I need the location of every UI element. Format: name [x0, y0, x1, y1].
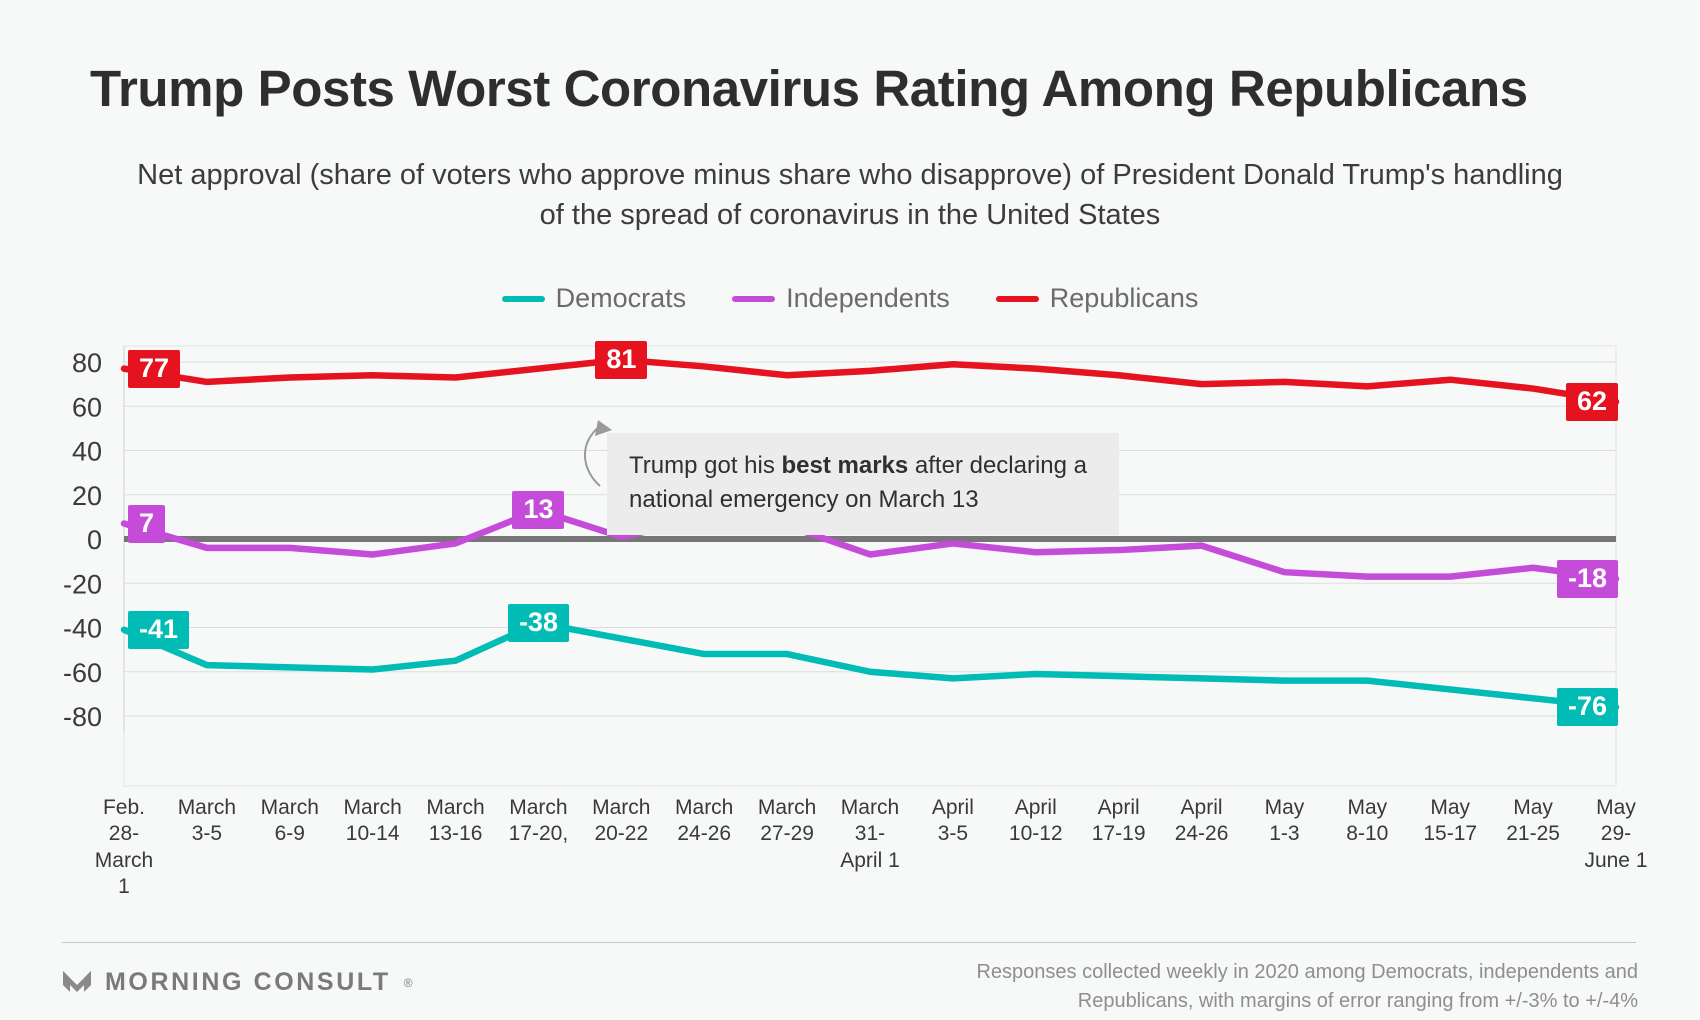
- y-axis-tick-label: 80: [72, 348, 102, 378]
- legend-item-democrats[interactable]: Democrats: [502, 283, 687, 314]
- annotation-callout: Trump got his best marks after declaring…: [607, 433, 1119, 535]
- morning-consult-mark-icon: [62, 969, 92, 997]
- annotation-text-bold: best marks: [782, 452, 909, 479]
- x-axis-tick-label: April 3-5: [911, 795, 994, 848]
- annotation-arrow: [585, 426, 600, 486]
- annotation-text-before: Trump got his: [629, 452, 782, 479]
- legend-swatch-republicans: [996, 296, 1039, 302]
- chart-page: Trump Posts Worst Coronavirus Rating Amo…: [0, 0, 1700, 1020]
- legend-item-republicans[interactable]: Republicans: [996, 283, 1199, 314]
- legend-swatch-democrats: [502, 296, 545, 302]
- series-line-republicans: [124, 360, 1616, 402]
- x-axis-tick-label: March 24-26: [663, 795, 746, 848]
- brand-name: MORNING CONSULT: [105, 968, 391, 997]
- chart-subtitle: Net approval (share of voters who approv…: [130, 155, 1570, 235]
- chart-legend: Democrats Independents Republicans: [0, 283, 1700, 314]
- y-axis-tick-label: -60: [63, 658, 102, 688]
- x-axis-tick-label: April 17-19: [1077, 795, 1160, 848]
- x-axis-tick-label: May 21-25: [1492, 795, 1575, 848]
- y-axis-tick-label: -40: [63, 614, 102, 644]
- y-axis-tick-label: -20: [63, 569, 102, 599]
- data-point-label-independents-18: -18: [1557, 560, 1618, 598]
- y-axis-tick-label: -80: [63, 702, 102, 732]
- legend-item-independents[interactable]: Independents: [732, 283, 950, 314]
- y-axis-tick-label: 20: [72, 481, 102, 511]
- x-axis-tick-label: May 8-10: [1326, 795, 1409, 848]
- x-axis-tick-label: April 24-26: [1160, 795, 1243, 848]
- y-axis-tick-label: 60: [72, 392, 102, 422]
- footer-divider: [62, 942, 1636, 943]
- data-point-label-independents-0: 7: [128, 505, 165, 543]
- data-point-label-republicans-18: 62: [1566, 383, 1618, 421]
- legend-label-democrats: Democrats: [556, 283, 687, 314]
- data-point-label-democrats-0: -41: [128, 611, 189, 649]
- legend-swatch-independents: [732, 296, 775, 302]
- x-axis-tick-label: April 10-12: [994, 795, 1077, 848]
- x-axis-tick-label: March 27-29: [746, 795, 829, 848]
- x-axis-tick-label: March 10-14: [331, 795, 414, 848]
- series-line-democrats: [124, 623, 1616, 707]
- x-axis-tick-label: May 1-3: [1243, 795, 1326, 848]
- x-axis-tick-label: March 20-22: [580, 795, 663, 848]
- brand-registered-icon: ®: [404, 976, 413, 990]
- data-point-label-democrats-18: -76: [1557, 688, 1618, 726]
- data-point-label-independents-5: 13: [512, 491, 564, 529]
- x-axis-tick-label: May 29- June 1: [1575, 795, 1658, 874]
- source-note: Responses collected weekly in 2020 among…: [878, 958, 1638, 1016]
- x-axis-tick-label: March 13-16: [414, 795, 497, 848]
- x-axis-tick-label: March 3-5: [165, 795, 248, 848]
- x-axis-tick-label: May 15-17: [1409, 795, 1492, 848]
- data-point-label-republicans-6: 81: [595, 341, 647, 379]
- x-axis-tick-label: March 6-9: [248, 795, 331, 848]
- legend-label-republicans: Republicans: [1050, 283, 1199, 314]
- brand-logo: MORNING CONSULT ®: [62, 968, 413, 997]
- data-point-label-democrats-5: -38: [508, 604, 569, 642]
- x-axis-labels: Feb. 28- March 1March 3-5March 6-9March …: [0, 795, 1700, 905]
- plot-frame: [124, 346, 1616, 786]
- x-axis-tick-label: March 17-20,: [497, 795, 580, 848]
- y-axis-tick-label: 40: [72, 437, 102, 467]
- data-point-label-republicans-0: 77: [128, 350, 180, 388]
- y-axis-tick-label: 0: [87, 525, 102, 555]
- x-axis-tick-label: Feb. 28- March 1: [83, 795, 166, 901]
- page-title: Trump Posts Worst Coronavirus Rating Amo…: [90, 62, 1610, 116]
- x-axis-tick-label: March 31- April 1: [829, 795, 912, 874]
- legend-label-independents: Independents: [786, 283, 950, 314]
